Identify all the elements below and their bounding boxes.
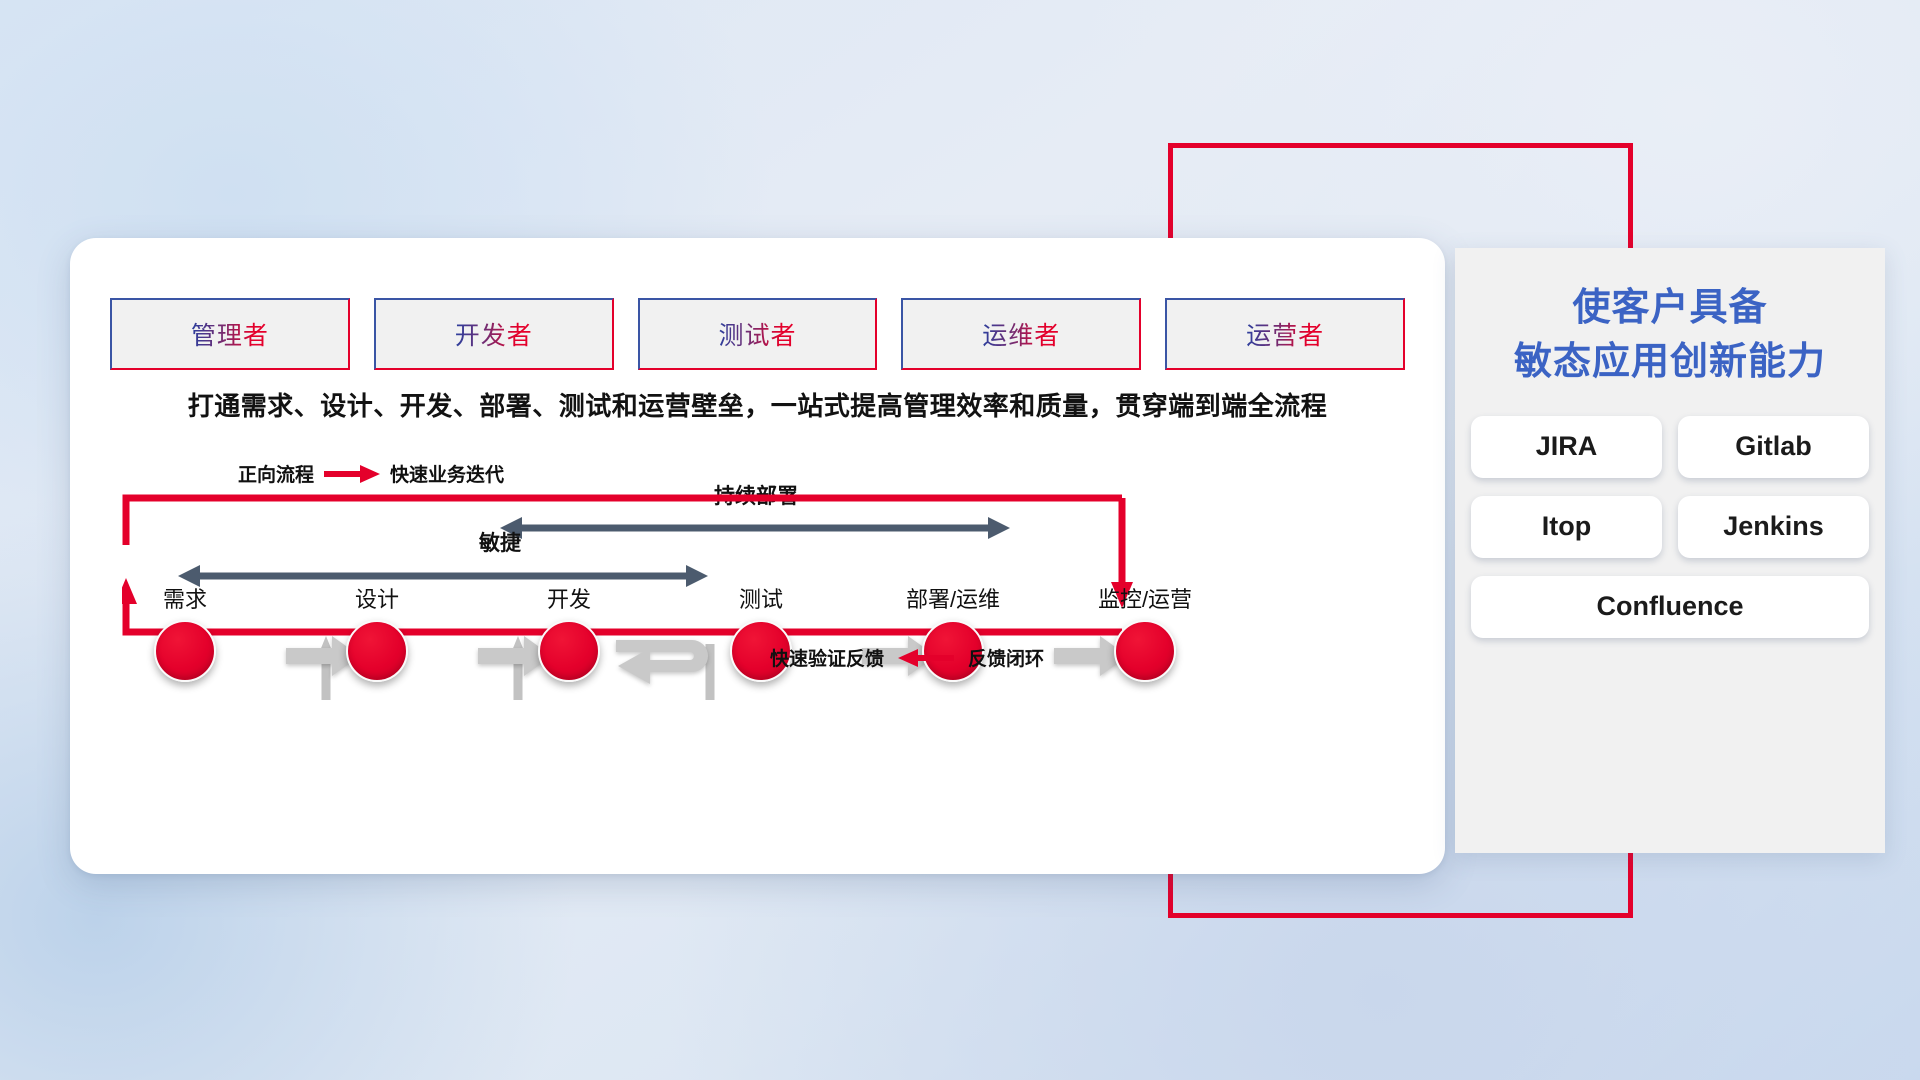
role-label: 管理者 [191,316,269,352]
stage-label: 监控/运营 [1080,582,1210,614]
tools-grid: JIRA Gitlab Itop Jenkins Confluence [1471,416,1869,638]
role-box-tester[interactable]: 测试者 [638,298,878,370]
stage-monitor-operate[interactable]: 监控/运营 [1080,582,1210,682]
tools-title-line-1: 使客户具备 [1455,282,1885,336]
role-label: 运营者 [1246,316,1324,352]
legend-feedback-source-label: 反馈闭环 [968,644,1044,671]
stage-design[interactable]: 设计 [312,582,442,682]
legend-forward-flow: 正向流程 快速业务迭代 [238,460,504,487]
role-box-operator[interactable]: 运营者 [1165,298,1405,370]
tool-chip-label: Jenkins [1723,511,1824,542]
role-box-developer[interactable]: 开发者 [374,298,614,370]
role-box-row: 管理者 开发者 测试者 运维者 运营者 [110,298,1405,370]
diagram-description: 打通需求、设计、开发、部署、测试和运营壁垒，一站式提高管理效率和质量，贯穿端到端… [70,386,1445,423]
pipeline-row: 需求 设计 开发 测试 [110,582,1400,702]
stage-label: 部署/运维 [888,582,1018,614]
stage-dot-icon [154,620,216,682]
stage-label: 开发 [504,582,634,614]
stage-requirements[interactable]: 需求 [120,582,250,682]
role-box-manager[interactable]: 管理者 [110,298,350,370]
role-label: 测试者 [718,316,796,352]
stage-label: 设计 [312,582,442,614]
tool-chip-itop[interactable]: Itop [1471,496,1662,558]
legend-forward-source-label: 正向流程 [238,460,314,487]
tools-panel: 使客户具备 敏态应用创新能力 JIRA Gitlab Itop Jenkins … [1455,248,1885,853]
stage-label: 需求 [120,582,250,614]
red-route-top-segment [1168,143,1633,148]
tool-chip-gitlab[interactable]: Gitlab [1678,416,1869,478]
tool-chip-jira[interactable]: JIRA [1471,416,1662,478]
legend-feedback-target-label: 快速验证反馈 [770,644,884,671]
role-label: 运维者 [982,316,1060,352]
stage-dot-icon [346,620,408,682]
role-box-ops[interactable]: 运维者 [901,298,1141,370]
red-arrow-right-icon [324,465,380,483]
red-route-bottom-segment [1168,913,1633,918]
legend-feedback-loop: 快速验证反馈 反馈闭环 [770,644,1044,671]
tool-chip-label: Itop [1542,511,1591,542]
tool-chip-confluence[interactable]: Confluence [1471,576,1869,638]
stage-dot-icon [1114,620,1176,682]
role-label: 开发者 [455,316,533,352]
tool-chip-label: Gitlab [1735,431,1812,462]
red-arrow-left-icon [898,649,954,667]
tools-title-line-2: 敏态应用创新能力 [1455,336,1885,390]
stage-label: 测试 [696,582,826,614]
devops-diagram-card: 管理者 开发者 测试者 运维者 运营者 打通需求、设计、开发、部署、测试和运营壁… [70,238,1445,874]
tools-panel-title: 使客户具备 敏态应用创新能力 [1455,282,1885,390]
stage-dot-icon [538,620,600,682]
tool-chip-label: JIRA [1536,431,1598,462]
tool-chip-jenkins[interactable]: Jenkins [1678,496,1869,558]
tool-chip-label: Confluence [1596,591,1743,622]
legend-forward-target-label: 快速业务迭代 [390,460,504,487]
